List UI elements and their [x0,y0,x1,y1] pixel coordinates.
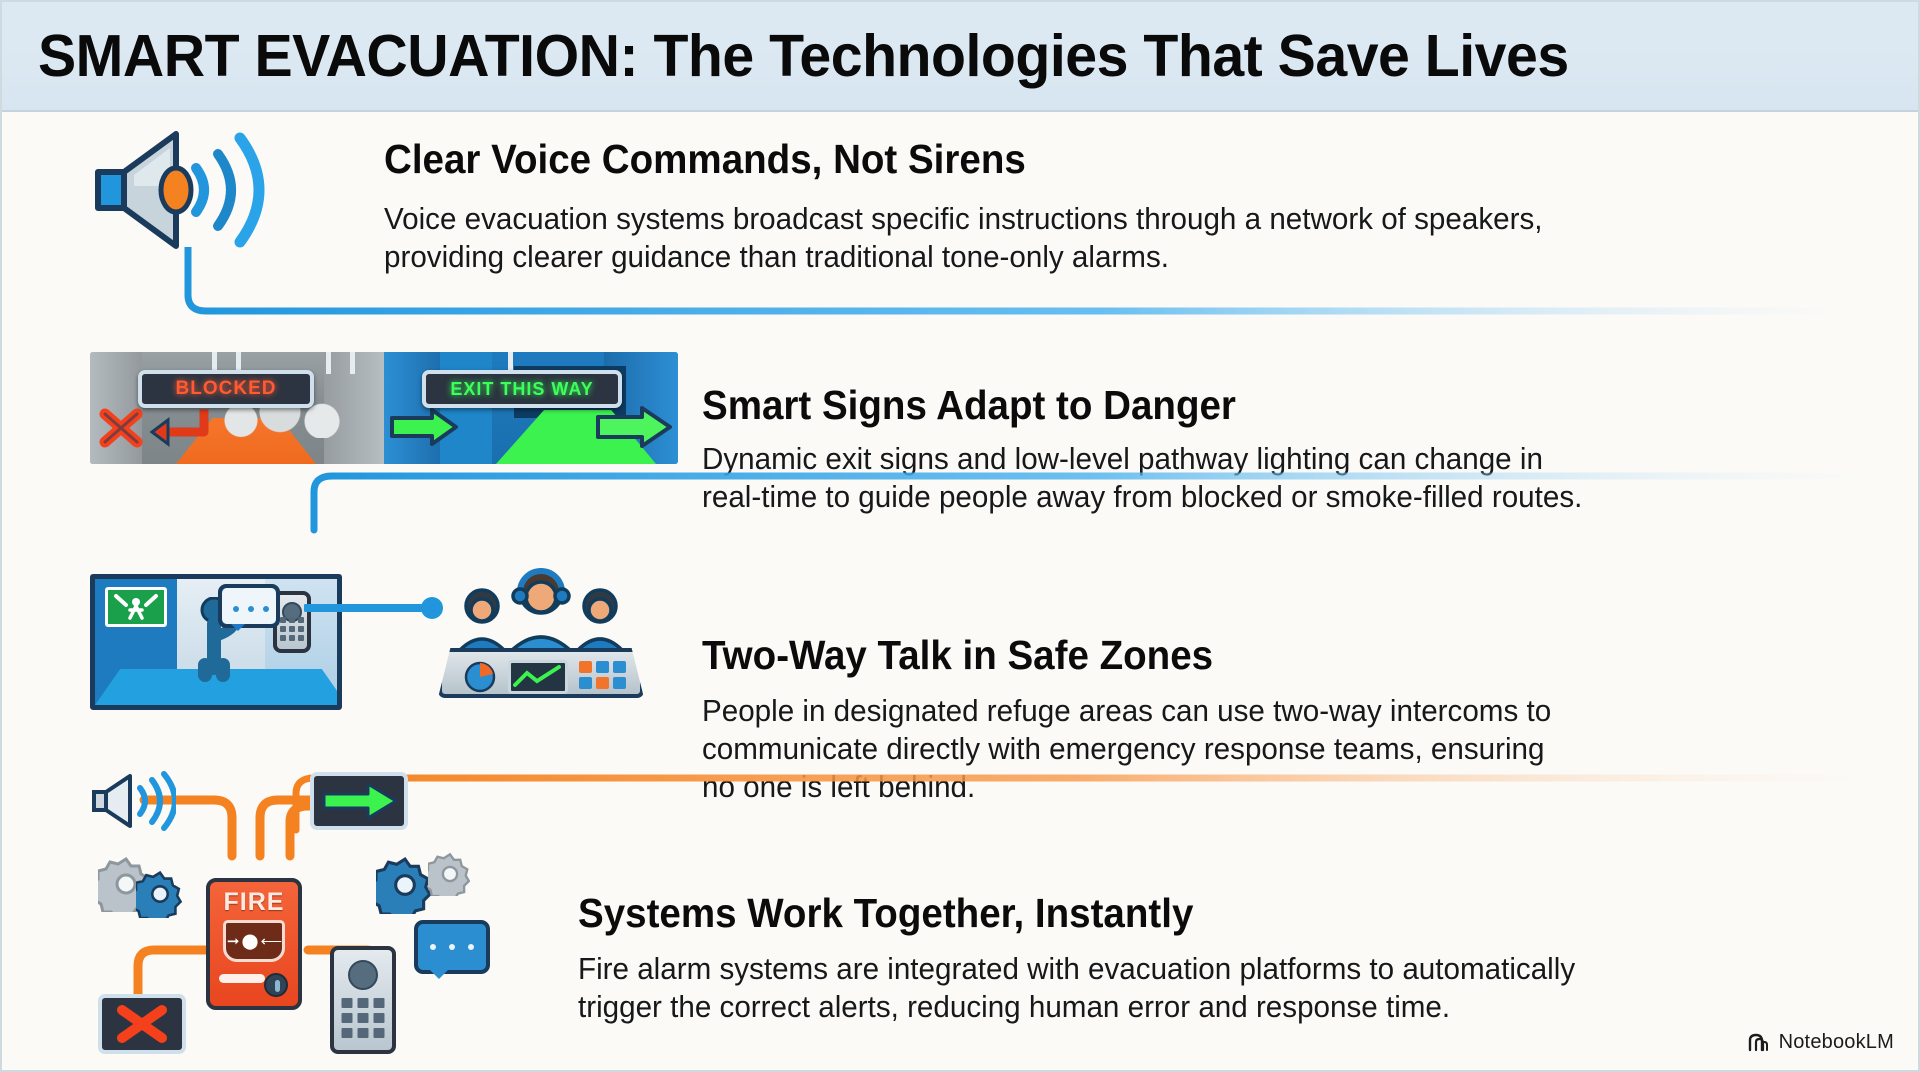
body-line: trigger the correct alerts, reducing hum… [578,988,1839,1026]
control-console [438,648,644,698]
body-line: Fire alarm systems are integrated with e… [578,950,1839,988]
fire-alarm-pull-station[interactable]: FIRE ➞ ⬤ ⟵ [206,878,302,1010]
section-heading: Smart Signs Adapt to Danger [702,384,1236,427]
gear-icon [376,856,434,914]
green-arrow-icon [594,404,674,450]
body-line: People in designated refuge areas can us… [702,692,1848,730]
body-line: communicate directly with emergency resp… [702,730,1848,768]
connector-blue-2 [272,472,1892,552]
gear-icon [428,852,472,896]
speaker-icon [90,770,176,832]
chat-bubble-icon [414,920,490,974]
blocked-route-screen [98,994,186,1054]
refuge-exit-sign [105,587,167,627]
integrated-fire-alarm-illustration: FIRE ➞ ⬤ ⟵ [84,760,554,1060]
section-body: Fire alarm systems are integrated with e… [578,950,1839,1026]
fire-label: FIRE [224,888,285,917]
refuge-area-intercom-illustration [90,550,670,710]
pull-lever[interactable]: ➞ ⬤ ⟵ [223,920,285,962]
green-arrow-icon [388,406,460,448]
operator-team-icon [446,564,636,654]
blocked-x-icon [98,408,144,448]
keyhole-icon [264,973,288,997]
gear-icon [136,870,184,918]
notebooklm-logo-icon [1748,1033,1771,1052]
connector-blue-1 [152,247,1872,327]
section-heading: Clear Voice Commands, Not Sirens [384,138,1026,181]
header-banner: SMART EVACUATION: The Technologies That … [2,2,1920,112]
handheld-intercom[interactable] [330,946,396,1054]
connector-intercom-link [304,594,464,624]
exit-arrow-screen [310,772,408,830]
infographic-page: SMART EVACUATION: The Technologies That … [0,0,1920,1072]
body-line: Voice evacuation systems broadcast speci… [384,200,1797,238]
reroute-arrow-icon [142,404,212,450]
status-slot [219,974,265,983]
speaker-waves-icon [90,120,300,260]
watermark-label: NotebookLM [1779,1031,1894,1054]
exit-this-way-sign: EXIT THIS WAY [422,370,622,408]
console-buttons[interactable] [579,661,626,689]
section-heading: Systems Work Together, Instantly [578,892,1193,935]
safe-corridor-panel [384,352,678,464]
pie-chart-icon [464,661,498,693]
corridor-exit-signs-illustration: BLOCKED EXIT THIS WAY [90,352,678,464]
monitor-screen [508,660,568,694]
section-heading: Two-Way Talk in Safe Zones [702,634,1213,677]
speech-bubble-icon [218,584,280,628]
watermark: NotebookLM [1748,1031,1894,1054]
page-title: SMART EVACUATION: The Technologies That … [38,22,1569,90]
blocked-sign: BLOCKED [138,370,314,408]
